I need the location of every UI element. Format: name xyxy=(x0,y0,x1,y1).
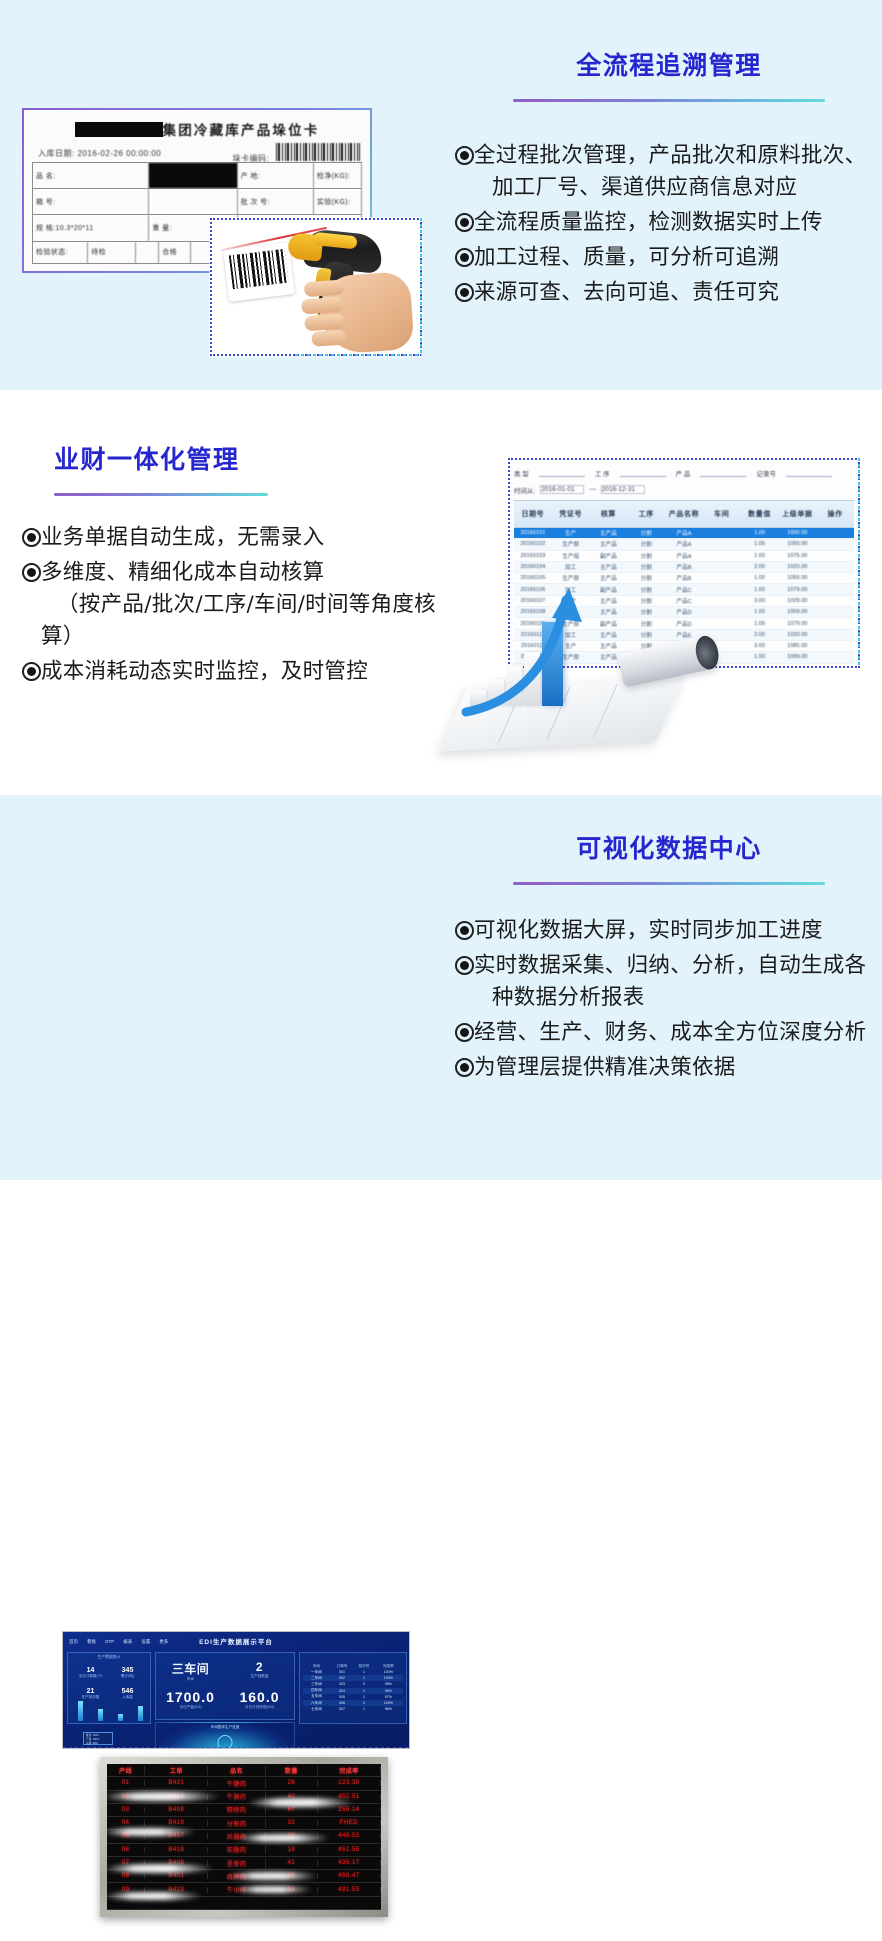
count-cell: 2 生产线数量 xyxy=(225,1660,294,1682)
section-visual-data-center: 可视化数据中心 可视化数据大屏，实时同步加工进度 实时数据采集、归纳、分析，自动… xyxy=(0,795,882,1180)
erp-table-header: 日期号 凭证号 核算 工序 产品名称 车间 数量值 上级单据 操作 xyxy=(514,500,854,528)
glare-reflection xyxy=(247,1798,355,1807)
toolbar-field[interactable] xyxy=(786,470,832,477)
card-date: 入库日期: 2016-02-26 00:00:00 xyxy=(38,148,161,159)
glare-reflection xyxy=(227,1872,319,1880)
bullet-item: 实时数据采集、归纳、分析，自动生成各 种数据分析报表 xyxy=(455,950,880,1014)
column-header: 工序 xyxy=(627,509,665,519)
workshop-value: 三车间 xyxy=(156,1660,225,1677)
output-value: 1700.0 xyxy=(156,1689,225,1705)
bullet-marker-icon xyxy=(455,213,474,232)
workshop-caption: 车间 xyxy=(156,1677,225,1682)
growth-arrow-icon xyxy=(452,584,702,768)
panel-caption: 生产数据统计 xyxy=(68,1655,150,1660)
section-heading: 业财一体化管理 xyxy=(54,440,268,476)
bullet-item: 多维度、精细化成本自动核算 （按产品/批次/工序/车间/时间等角度核算） xyxy=(22,557,442,653)
card-cell: 合格 xyxy=(159,242,191,263)
barcode-label xyxy=(223,242,295,302)
column-header: 日期号 xyxy=(514,509,552,519)
kpi-value: 345 xyxy=(109,1667,146,1674)
traceability-artwork: 集团冷藏库产品垛位卡 入库日期: 2016-02-26 00:00:00 垛卡编… xyxy=(22,108,422,360)
bullet-text: 多维度、精细化成本自动核算 （按产品/批次/工序/车间/时间等角度核算） xyxy=(41,557,442,653)
card-cell: 品 名: xyxy=(33,163,149,188)
column-header: 车间 xyxy=(703,509,741,519)
led-display-board: 产线 工单 品名 数量 完成率 01B421牛腱肉26123.30 02B415… xyxy=(100,1757,388,1917)
bullet-item: 为管理层提供精准决策依据 xyxy=(455,1052,880,1084)
kpi-value: 21 xyxy=(72,1688,109,1695)
kpi-mini-chart xyxy=(72,1697,156,1721)
bullet-text: 来源可查、去向可追、责任可究 xyxy=(474,277,779,309)
right-table: 车间 订单号 批次号 完成率 一车间0011100% 二车间0021100% xyxy=(303,1664,403,1712)
card-title: 集团冷藏库产品垛位卡 xyxy=(163,119,320,139)
table-row[interactable]: 20160105生产部主产品分割产品B1.001055.00 xyxy=(514,573,854,584)
right-table-header: 车间 订单号 批次号 完成率 xyxy=(303,1664,403,1669)
card-row: 品 名: 产 地: 检净(KG): xyxy=(33,163,362,189)
dashboard-progress-gauge: 车间整体生产进度 xyxy=(155,1722,295,1749)
hand xyxy=(317,271,414,355)
screen-edge-accent xyxy=(63,1747,409,1749)
filter-date-from[interactable]: 2016-01-01 xyxy=(540,485,584,494)
section-finance-integration: 业财一体化管理 业务单据自动生成，无需录入 多维度、精细化成本自动核算 （按产品… xyxy=(0,390,882,795)
menu-item[interactable]: 首页 xyxy=(69,1639,78,1645)
bullet-marker-icon xyxy=(455,248,474,267)
bullet-marker-icon xyxy=(22,528,41,547)
menu-item[interactable]: 设置 xyxy=(141,1639,150,1645)
bullet-text: 成本消耗动态实时监控，及时管控 xyxy=(41,656,368,688)
bullet-marker-icon xyxy=(22,563,41,582)
bullet-item: 全流程质量监控，检测数据实时上传 xyxy=(455,207,875,239)
table-row[interactable]: 20160103生产组副产品分割产品A1.001075.00 xyxy=(514,551,854,562)
kpi-card: 345 累计(吨) xyxy=(109,1667,146,1679)
column-header: 品名 xyxy=(208,1766,266,1775)
barcode-scanner-photo xyxy=(210,218,422,356)
card-title-row: 集团冷藏库产品垛位卡 xyxy=(24,119,370,139)
photo-edge-accent xyxy=(420,218,422,356)
target-caption: 今日计划完成(KG) xyxy=(225,1705,294,1710)
table-row[interactable]: 20160102生产部主产品分割产品A1.001050.00 xyxy=(514,539,854,550)
bullet-text: 加工过程、质量，可分析可追溯 xyxy=(474,242,779,274)
led-row: 01B421牛腱肉26123.30 xyxy=(107,1777,381,1790)
bullet-marker-icon xyxy=(455,921,474,940)
bullet-item: 经营、生产、财务、成本全方位深度分析 xyxy=(455,1017,880,1049)
count-caption: 生产线数量 xyxy=(225,1674,294,1679)
bullet-marker-icon xyxy=(22,662,41,681)
bullet-marker-icon xyxy=(455,1023,474,1042)
bullet-item: 可视化数据大屏，实时同步加工进度 xyxy=(455,915,880,947)
mini-bar xyxy=(78,1701,83,1721)
menu-item[interactable]: 更多 xyxy=(159,1639,168,1645)
card-cell: 实验(KG): xyxy=(314,189,362,214)
glare-reflection xyxy=(101,1828,197,1836)
bullet-marker-icon xyxy=(455,956,474,975)
bullet-item: 来源可查、去向可追、责任可究 xyxy=(455,277,875,309)
card-cell: 批 次 号: xyxy=(238,189,314,214)
mini-bar xyxy=(98,1709,103,1721)
table-row[interactable]: 20160104加工主产品分割产品B2.001020.00 xyxy=(514,562,854,573)
count-value: 2 xyxy=(225,1660,294,1674)
bullet-list-finance: 业务单据自动生成，无需录入 多维度、精细化成本自动核算 （按产品/批次/工序/车… xyxy=(22,522,442,691)
heading-rule xyxy=(513,882,825,885)
column-header: 车间 xyxy=(303,1664,330,1669)
bullet-marker-icon xyxy=(455,283,474,302)
kpi-grid: 14 今日订单数(个) 345 累计(吨) 21 在产批次数 546 xyxy=(72,1667,146,1700)
bullet-marker-icon xyxy=(455,1058,474,1077)
toolbar-field[interactable] xyxy=(700,470,746,477)
photo-edge-accent-bottom xyxy=(295,354,422,356)
column-header: 操作 xyxy=(816,509,854,519)
column-header: 凭证号 xyxy=(552,509,590,519)
kpi-card: 14 今日订单数(个) xyxy=(72,1667,109,1679)
menu-item[interactable]: 报表 xyxy=(123,1639,132,1645)
card-cell xyxy=(136,242,159,263)
led-row: 03B408精修肉67256.14 xyxy=(107,1804,381,1817)
column-header: 数量值 xyxy=(741,509,779,519)
bullet-text: 全流程质量监控，检测数据实时上传 xyxy=(474,207,823,239)
kpi-value: 14 xyxy=(72,1667,109,1674)
column-header: 工单 xyxy=(145,1766,208,1775)
dashboard-right-table: 车间 订单号 批次号 完成率 一车间0011100% 二车间0021100% xyxy=(299,1652,407,1724)
dashboard-kpi-panel: 生产数据统计 14 今日订单数(个) 345 累计(吨) 21 在产批次数 xyxy=(67,1652,151,1724)
card-cell: 产 地: xyxy=(238,163,314,188)
card-cell xyxy=(149,189,237,214)
card-cell: 检验状态: xyxy=(33,242,88,263)
column-header: 订单号 xyxy=(330,1664,354,1669)
column-header: 完成率 xyxy=(318,1766,381,1775)
section-traceability: 集团冷藏库产品垛位卡 入库日期: 2016-02-26 00:00:00 垛卡编… xyxy=(0,0,882,390)
visual-data-artwork: 首页 看板 OTP 报表 设置 更多 EDI生产数据展示平台 生产数据统计 14… xyxy=(62,1631,430,1941)
redacted-company-name xyxy=(75,122,163,137)
finger xyxy=(304,314,345,332)
card-cell: 规 格: 10.3*20*11 xyxy=(33,215,149,240)
heading-rule xyxy=(513,99,825,102)
bullet-text: 实时数据采集、归纳、分析，自动生成各 种数据分析报表 xyxy=(474,950,866,1014)
finger xyxy=(304,279,345,297)
barcode-bars-icon xyxy=(229,249,289,290)
bullet-item: 全过程批次管理，产品批次和原料批次、 加工厂号、渠道供应商信息对应 xyxy=(455,140,875,204)
chart-tooltip: 批次: 1020 产量: 160.0 完成: 98% xyxy=(83,1732,113,1745)
kpi-label: 今日订单数(个) xyxy=(72,1674,109,1679)
toolbar-field[interactable] xyxy=(620,470,666,477)
column-header: 产线 xyxy=(107,1766,145,1775)
led-header-row: 产线 工单 品名 数量 完成率 xyxy=(107,1764,381,1777)
column-header: 批次号 xyxy=(354,1664,374,1669)
bullet-text: 可视化数据大屏，实时同步加工进度 xyxy=(474,915,823,947)
card-cell: 检净(KG): xyxy=(314,163,362,188)
section-heading: 全流程追溯管理 xyxy=(513,46,825,82)
table-row[interactable]: 20160101生产主产品分割产品A1.001000.00 xyxy=(514,528,854,539)
column-header: 上级单据 xyxy=(778,509,816,519)
led-row: 06B418前腿肉18451.56 xyxy=(107,1844,381,1857)
bullet-item: 业务单据自动生成，无需录入 xyxy=(22,522,442,554)
heading-block-finance: 业财一体化管理 xyxy=(54,440,268,496)
bullet-text: 经营、生产、财务、成本全方位深度分析 xyxy=(474,1017,866,1049)
erp-filter-bar: 时间从: 2016-01-01 — 2016-12-31 xyxy=(514,482,854,497)
card-code: 垛卡编码: xyxy=(233,143,360,164)
photo-edge-accent xyxy=(858,458,860,668)
barcode-icon xyxy=(276,143,360,161)
glare-reflection xyxy=(103,1864,215,1873)
kpi-label: 累计(吨) xyxy=(109,1674,146,1679)
column-header: 核算 xyxy=(590,509,628,519)
kpi-value: 546 xyxy=(109,1688,146,1695)
card-cell-redacted xyxy=(149,163,237,188)
infographic-page: 集团冷藏库产品垛位卡 入库日期: 2016-02-26 00:00:00 垛卡编… xyxy=(0,0,882,1200)
bullet-item: 成本消耗动态实时监控，及时管控 xyxy=(22,656,442,688)
mini-bar xyxy=(138,1706,143,1721)
erp-toolbar: 类 型 工 序 产 品 记录号 xyxy=(514,463,854,483)
bullet-item: 加工过程、质量，可分析可追溯 xyxy=(455,242,875,274)
finger xyxy=(301,297,344,315)
gauge-caption: 车间整体生产进度 xyxy=(156,1725,294,1730)
card-cell: 待检 xyxy=(88,242,136,263)
heading-rule xyxy=(54,493,268,496)
glare-reflection xyxy=(101,1792,221,1801)
finger xyxy=(311,329,346,346)
workshop-cell: 三车间 车间 xyxy=(156,1660,225,1682)
card-meta: 入库日期: 2016-02-26 00:00:00 垛卡编码: xyxy=(38,143,360,164)
glare-reflection xyxy=(233,1886,313,1893)
bullet-text: 为管理层提供精准决策依据 xyxy=(474,1052,736,1084)
output-caption: 今日产量(KG) xyxy=(156,1705,225,1710)
heading-block-visual: 可视化数据中心 xyxy=(513,829,825,885)
menu-item[interactable]: 看板 xyxy=(87,1639,96,1645)
dashboard-center-panel: 三车间 车间 2 生产线数量 1700.0 今日产量(KG) xyxy=(155,1652,295,1720)
card-cell: 箱 号: xyxy=(33,189,149,214)
target-cell: 160.0 今日计划完成(KG) xyxy=(225,1689,294,1710)
heading-block-traceability: 全流程追溯管理 xyxy=(513,46,825,102)
filter-date-to[interactable]: 2016-12-31 xyxy=(601,485,645,494)
dashboard-title: EDI生产数据展示平台 xyxy=(199,1636,273,1646)
table-row: 七车间007196% xyxy=(303,1706,403,1712)
growth-chart-graphic xyxy=(452,584,702,768)
center-row-bottom: 1700.0 今日产量(KG) 160.0 今日计划完成(KG) xyxy=(156,1689,294,1710)
toolbar-field[interactable] xyxy=(539,470,585,477)
center-row-top: 三车间 车间 2 生产线数量 xyxy=(156,1660,294,1682)
mini-bar xyxy=(118,1714,123,1721)
bullet-text: 全过程批次管理，产品批次和原料批次、 加工厂号、渠道供应商信息对应 xyxy=(474,140,866,204)
output-cell: 1700.0 今日产量(KG) xyxy=(156,1689,225,1710)
column-header: 数量 xyxy=(266,1766,318,1775)
glare-reflection xyxy=(103,1892,203,1900)
bullet-marker-icon xyxy=(455,146,474,165)
menu-item[interactable]: OTP xyxy=(105,1639,114,1645)
dashboard-big-screen: 首页 看板 OTP 报表 设置 更多 EDI生产数据展示平台 生产数据统计 14… xyxy=(62,1631,410,1749)
card-row: 箱 号: 批 次 号: 实验(KG): xyxy=(33,189,362,215)
bullet-text: 业务单据自动生成，无需录入 xyxy=(41,522,324,554)
column-header: 产品名称 xyxy=(665,509,703,519)
section-heading: 可视化数据中心 xyxy=(513,829,825,865)
page-footer-space xyxy=(0,1180,882,1200)
glare-reflection xyxy=(235,1834,331,1842)
column-header: 完成率 xyxy=(374,1664,403,1669)
finance-artwork: 类 型 工 序 产 品 记录号 时间从: 2016-01-01 — 2016-1… xyxy=(452,458,868,768)
bullet-list-visual: 可视化数据大屏，实时同步加工进度 实时数据采集、归纳、分析，自动生成各 种数据分… xyxy=(455,915,880,1087)
target-value: 160.0 xyxy=(225,1689,294,1705)
bullet-list-traceability: 全过程批次管理，产品批次和原料批次、 加工厂号、渠道供应商信息对应 全流程质量监… xyxy=(455,140,875,312)
